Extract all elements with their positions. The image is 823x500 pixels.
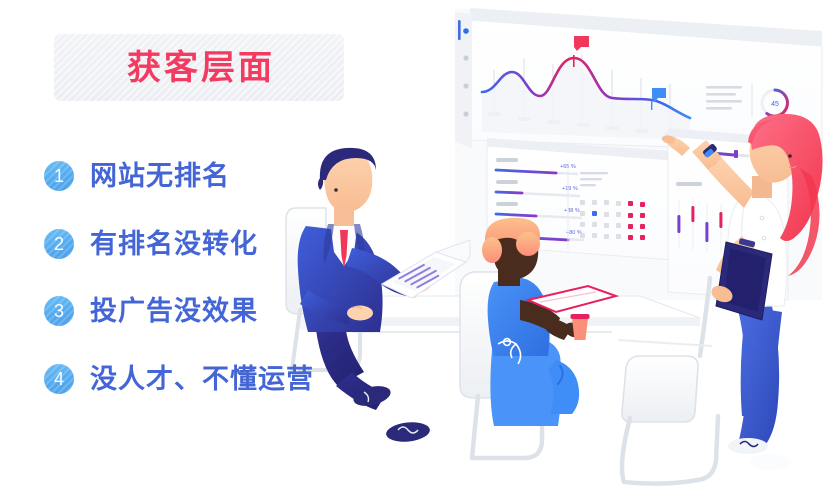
sidebar-active-bar <box>458 20 461 40</box>
empty-chair-seat <box>622 356 698 422</box>
donut-value-label: 45 <box>771 101 779 108</box>
title-badge: 获客层面 <box>54 34 344 101</box>
nav-dot-icon <box>463 55 468 60</box>
woman-shoe-back <box>728 438 768 454</box>
progress-value: +38 % <box>564 208 580 214</box>
woman-shoe-front <box>750 454 790 470</box>
nav-dot-icon <box>463 111 468 116</box>
list-item: 3 投广告没效果 <box>44 291 258 331</box>
right-panel-title-chip <box>676 182 702 186</box>
bullet-label: 网站无排名 <box>90 163 230 190</box>
nav-dot-active-icon <box>463 28 469 34</box>
bullet-label: 没人才、不懂运营 <box>90 366 314 393</box>
empty-chair-legs <box>622 418 698 484</box>
list-item: 2 有排名没转化 <box>44 224 258 264</box>
bullet-number-badge: 2 <box>44 229 74 259</box>
bullet-label: 投广告没效果 <box>90 298 258 325</box>
text-panel: 获客层面 1 网站无排名 2 有排名没转化 3 投广告没效果 4 没人才、不懂运… <box>0 0 400 500</box>
illustration-banner: 45 +65 % +19 % <box>0 0 823 500</box>
floor-line <box>618 340 712 346</box>
screen-sidebar <box>455 12 472 148</box>
bullet-number-badge: 3 <box>44 296 74 326</box>
list-item: 4 没人才、不懂运营 <box>44 359 314 399</box>
bullet-label: 有排名没转化 <box>90 231 258 258</box>
woman-eye <box>788 154 792 158</box>
progress-value: +19 % <box>562 186 578 192</box>
bullet-number-badge: 1 <box>44 161 74 191</box>
list-item: 1 网站无排名 <box>44 156 230 196</box>
page-title: 获客层面 <box>123 51 275 85</box>
bullet-number-badge: 4 <box>44 364 74 394</box>
nav-dot-icon <box>463 83 468 88</box>
